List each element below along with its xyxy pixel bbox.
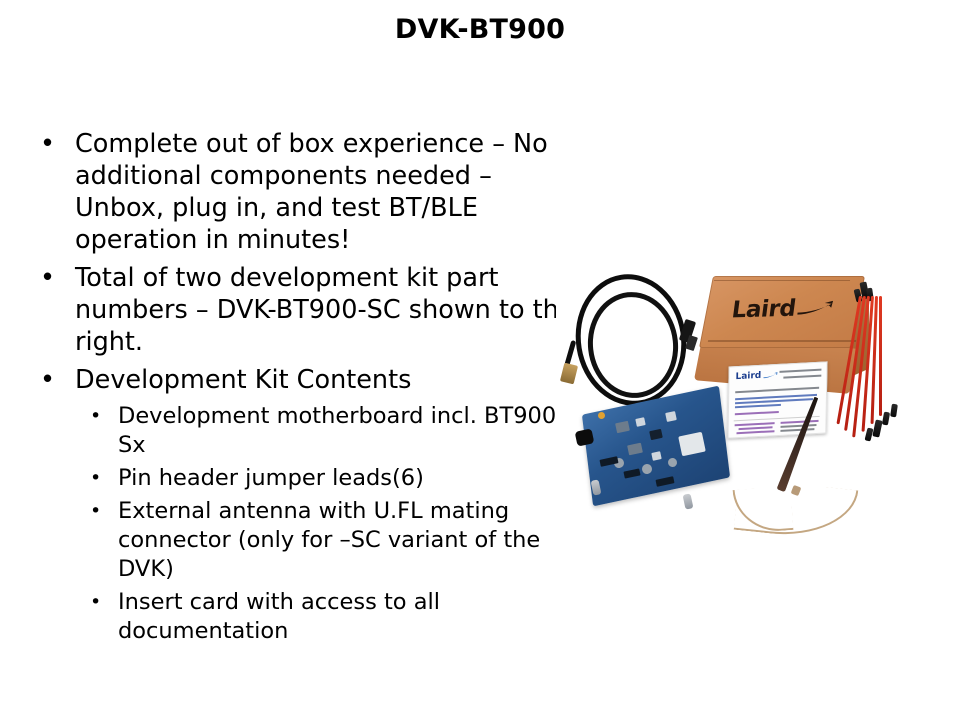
insert-card-contact-line [781,420,819,423]
list-item-text: Complete out of box experience – No addi… [75,129,548,255]
insert-card-url-line [735,411,779,415]
insert-card-contact-line [735,422,775,426]
bullet-marker-icon: • [90,464,101,493]
laird-swoosh-icon [763,372,777,379]
insert-card-heading-line [779,369,821,373]
sub-list-item: • External antenna with U.FL mating conn… [30,497,575,584]
laird-logo: Laird [730,295,840,324]
bullet-list: • Complete out of box experience – No ad… [30,128,575,650]
product-photo: Laird Laird [556,262,954,562]
list-item-text: Development Kit Contents [75,365,411,395]
sub-list-item-text: Pin header jumper leads(6) [118,465,424,491]
sub-list-item: • Insert card with access to all documen… [30,588,575,646]
pcb-led [598,412,605,419]
page-title: DVK-BT900 [0,14,960,45]
bullet-marker-icon: • [40,128,55,160]
shipping-box-seam [714,280,850,281]
sub-list-item-text: External antenna with U.FL mating connec… [118,498,540,582]
pcb-standoff [683,493,694,509]
jumper-lead-housing [872,419,882,437]
insert-card-body-line [735,404,781,408]
sub-list-item: • Pin header jumper leads(6) [30,464,575,493]
jumper-lead-housing [882,412,890,426]
development-motherboard [582,386,730,507]
usb-type-a-connector [560,363,578,385]
insert-card-contact-line [739,426,773,429]
list-item: • Total of two development kit part numb… [30,262,575,358]
insert-card-body-line [735,387,819,393]
bullet-marker-icon: • [90,588,101,617]
jumper-lead-wire [879,296,882,416]
insert-card-logo-text: Laird [735,371,761,382]
insert-card-contact-line [737,430,775,433]
list-item-text: Total of two development kit part number… [75,263,575,357]
bullet-marker-icon: • [40,262,55,294]
sub-bullet-list: • Development motherboard incl. BT900-Sx… [30,402,575,646]
insert-card-heading-line [783,375,821,379]
insert-card-contact-line [781,424,817,427]
insert-card-logo: Laird [735,370,777,382]
sub-list-item-text: Insert card with access to all documenta… [118,589,440,644]
bullet-marker-icon: • [40,364,55,396]
jumper-lead-housing [890,404,898,418]
shipping-box-lid-edge [708,340,856,342]
bullet-marker-icon: • [90,402,101,431]
laird-swoosh-icon [798,301,834,316]
insert-card-contact-line [780,428,814,431]
antenna-ufl-cable [734,478,859,542]
sub-list-item-text: Development motherboard incl. BT900-Sx [118,403,564,458]
laird-logo-text: Laird [730,296,797,324]
list-item: • Development Kit Contents [30,364,575,396]
sub-list-item: • Development motherboard incl. BT900-Sx [30,402,575,460]
list-item: • Complete out of box experience – No ad… [30,128,575,256]
insert-card: Laird [727,361,827,438]
bullet-marker-icon: • [90,497,101,526]
